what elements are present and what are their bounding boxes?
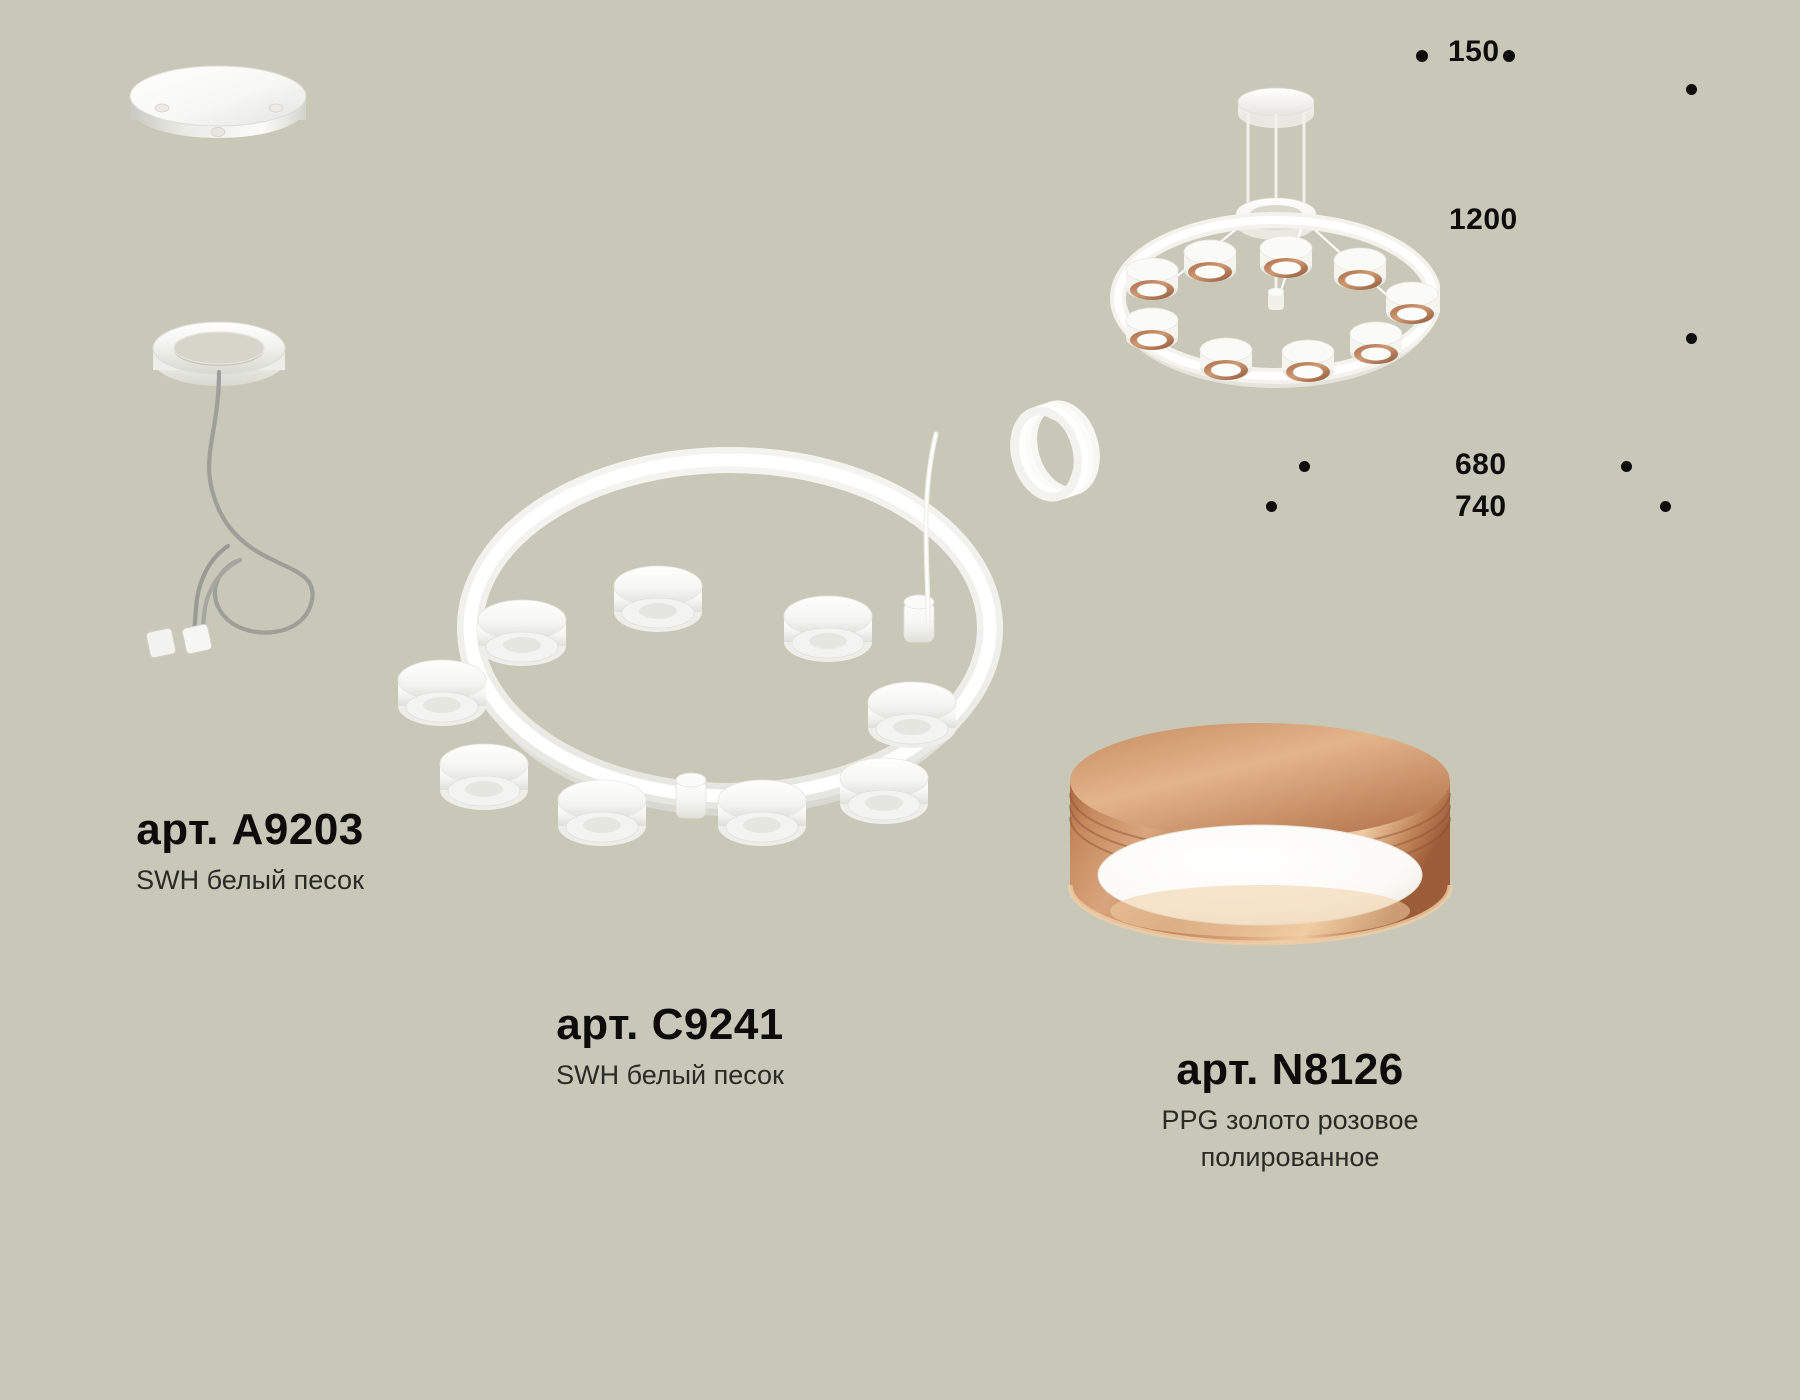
dim-marker-680-right (1621, 461, 1632, 472)
dimension-680-value: 680 (1455, 448, 1507, 482)
dimension-680: 680 (1455, 448, 1507, 482)
dim-marker-740-right (1660, 501, 1671, 512)
dim-marker-680-left (1299, 461, 1310, 472)
dim-marker-1200-bottom (1686, 333, 1697, 344)
label-n8126: арт. N8126 PPG золото розовое полированн… (1060, 1045, 1520, 1176)
product-diagram-canvas: арт. A9203 SWH белый песок (0, 0, 1800, 1400)
product-image-n8126 (1050, 715, 1470, 1035)
finish-n8126-line1: PPG золото розовое (1060, 1103, 1520, 1139)
art-code-n8126: арт. N8126 (1060, 1045, 1520, 1096)
dim-marker-150-left (1416, 50, 1428, 62)
dim-marker-740-left (1266, 501, 1277, 512)
label-c9241: арт. C9241 SWH белый песок (450, 1000, 890, 1093)
dimension-1200-value: 1200 (1449, 203, 1518, 237)
dimension-1200: 1200 (1449, 203, 1518, 237)
dimension-740: 740 (1455, 490, 1507, 524)
finish-c9241: SWH белый песок (450, 1058, 890, 1094)
product-image-a9203 (100, 60, 400, 680)
assembly-image-chandelier (1080, 70, 1440, 430)
finish-n8126-line2: полированное (1060, 1140, 1520, 1176)
dimension-150-value: 150 (1448, 35, 1500, 69)
dim-marker-150-right (1503, 50, 1515, 62)
art-code-c9241: арт. C9241 (450, 1000, 890, 1051)
dim-marker-1200-top (1686, 84, 1697, 95)
dimension-150: 150 (1448, 35, 1500, 69)
dimension-740-value: 740 (1455, 490, 1507, 524)
